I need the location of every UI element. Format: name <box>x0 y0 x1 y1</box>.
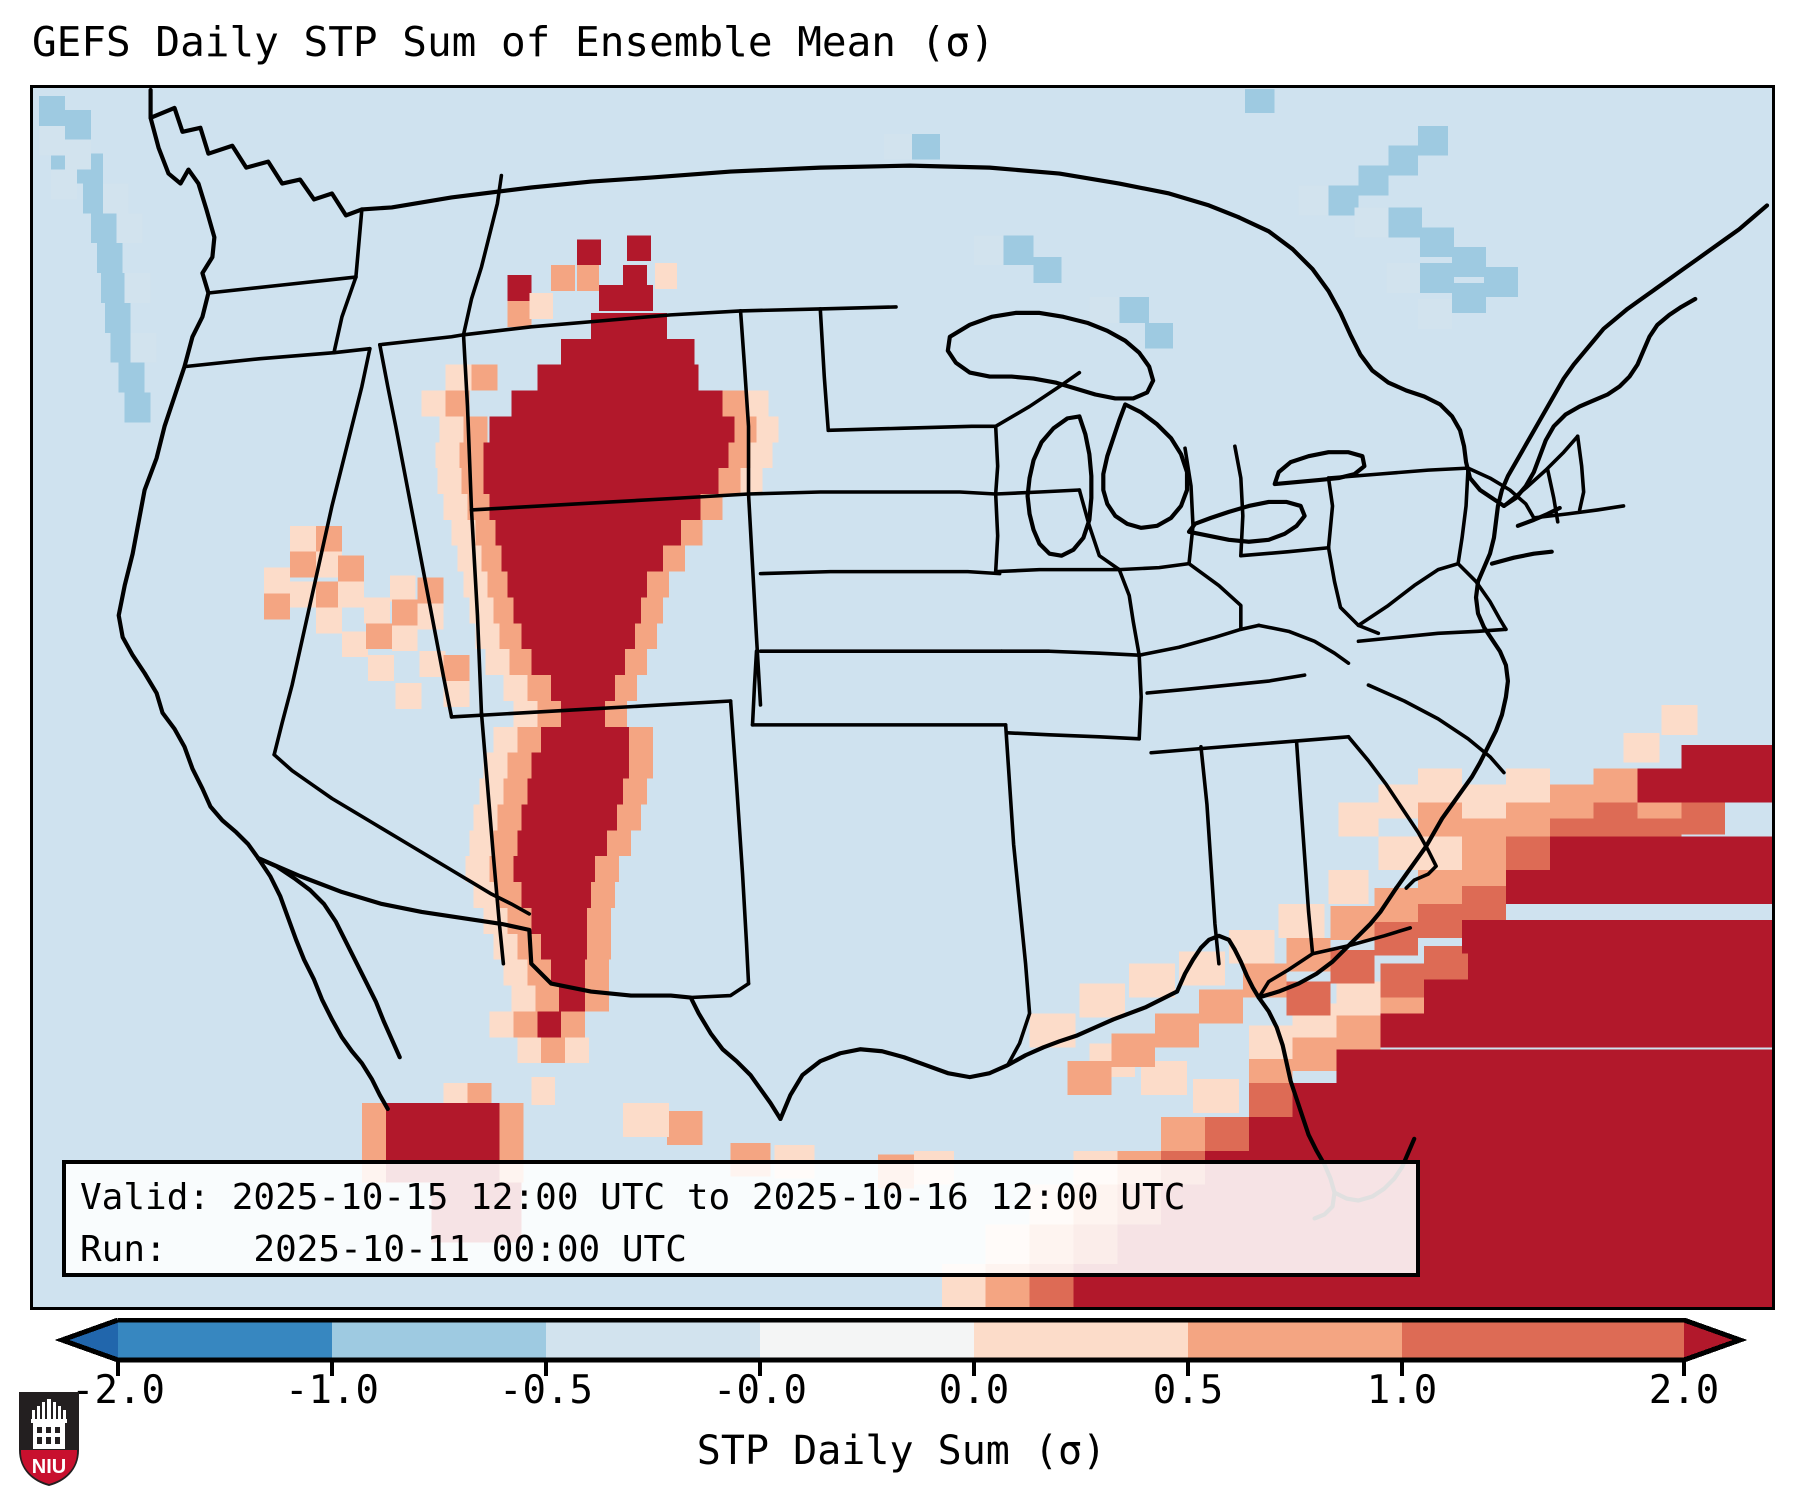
colorbar-tick-3: -0.0 <box>713 1368 807 1413</box>
colorbar-axis-label: STP Daily Sum (σ) <box>0 1428 1803 1474</box>
colorbar-tick-labels: -2.0 -1.0 -0.5 -0.0 0.0 0.5 1.0 2.0 <box>0 1368 1803 1422</box>
colorbar-tick-2: -0.5 <box>499 1368 593 1413</box>
niu-wordmark: NIU <box>32 1456 66 1478</box>
colorbar-tick-7: 2.0 <box>1649 1368 1719 1413</box>
colorbar-over-arrow <box>1684 1320 1740 1360</box>
run-time-text: Run: 2025-10-11 00:00 UTC <box>80 1224 1402 1276</box>
colorbar-under-arrow <box>62 1320 118 1360</box>
page-title: GEFS Daily STP Sum of Ensemble Mean (σ) <box>32 18 995 66</box>
colorbar-tick-1: -1.0 <box>285 1368 379 1413</box>
valid-time-text: Valid: 2025-10-15 12:00 UTC to 2025-10-1… <box>80 1172 1402 1224</box>
niu-logo-svg: NIU <box>17 1388 81 1488</box>
colorbar-tick-6: 1.0 <box>1367 1368 1437 1413</box>
map-panel <box>30 85 1775 1310</box>
valid-run-info-box: Valid: 2025-10-15 12:00 UTC to 2025-10-1… <box>62 1160 1420 1277</box>
colorbar-segments <box>118 1320 1684 1360</box>
colorbar-tick-5: 0.5 <box>1153 1368 1223 1413</box>
map-canvas <box>33 88 1772 1307</box>
niu-logo: NIU <box>17 1388 81 1488</box>
colorbar-tick-0: -2.0 <box>71 1368 165 1413</box>
colorbar-tick-4: 0.0 <box>939 1368 1009 1413</box>
